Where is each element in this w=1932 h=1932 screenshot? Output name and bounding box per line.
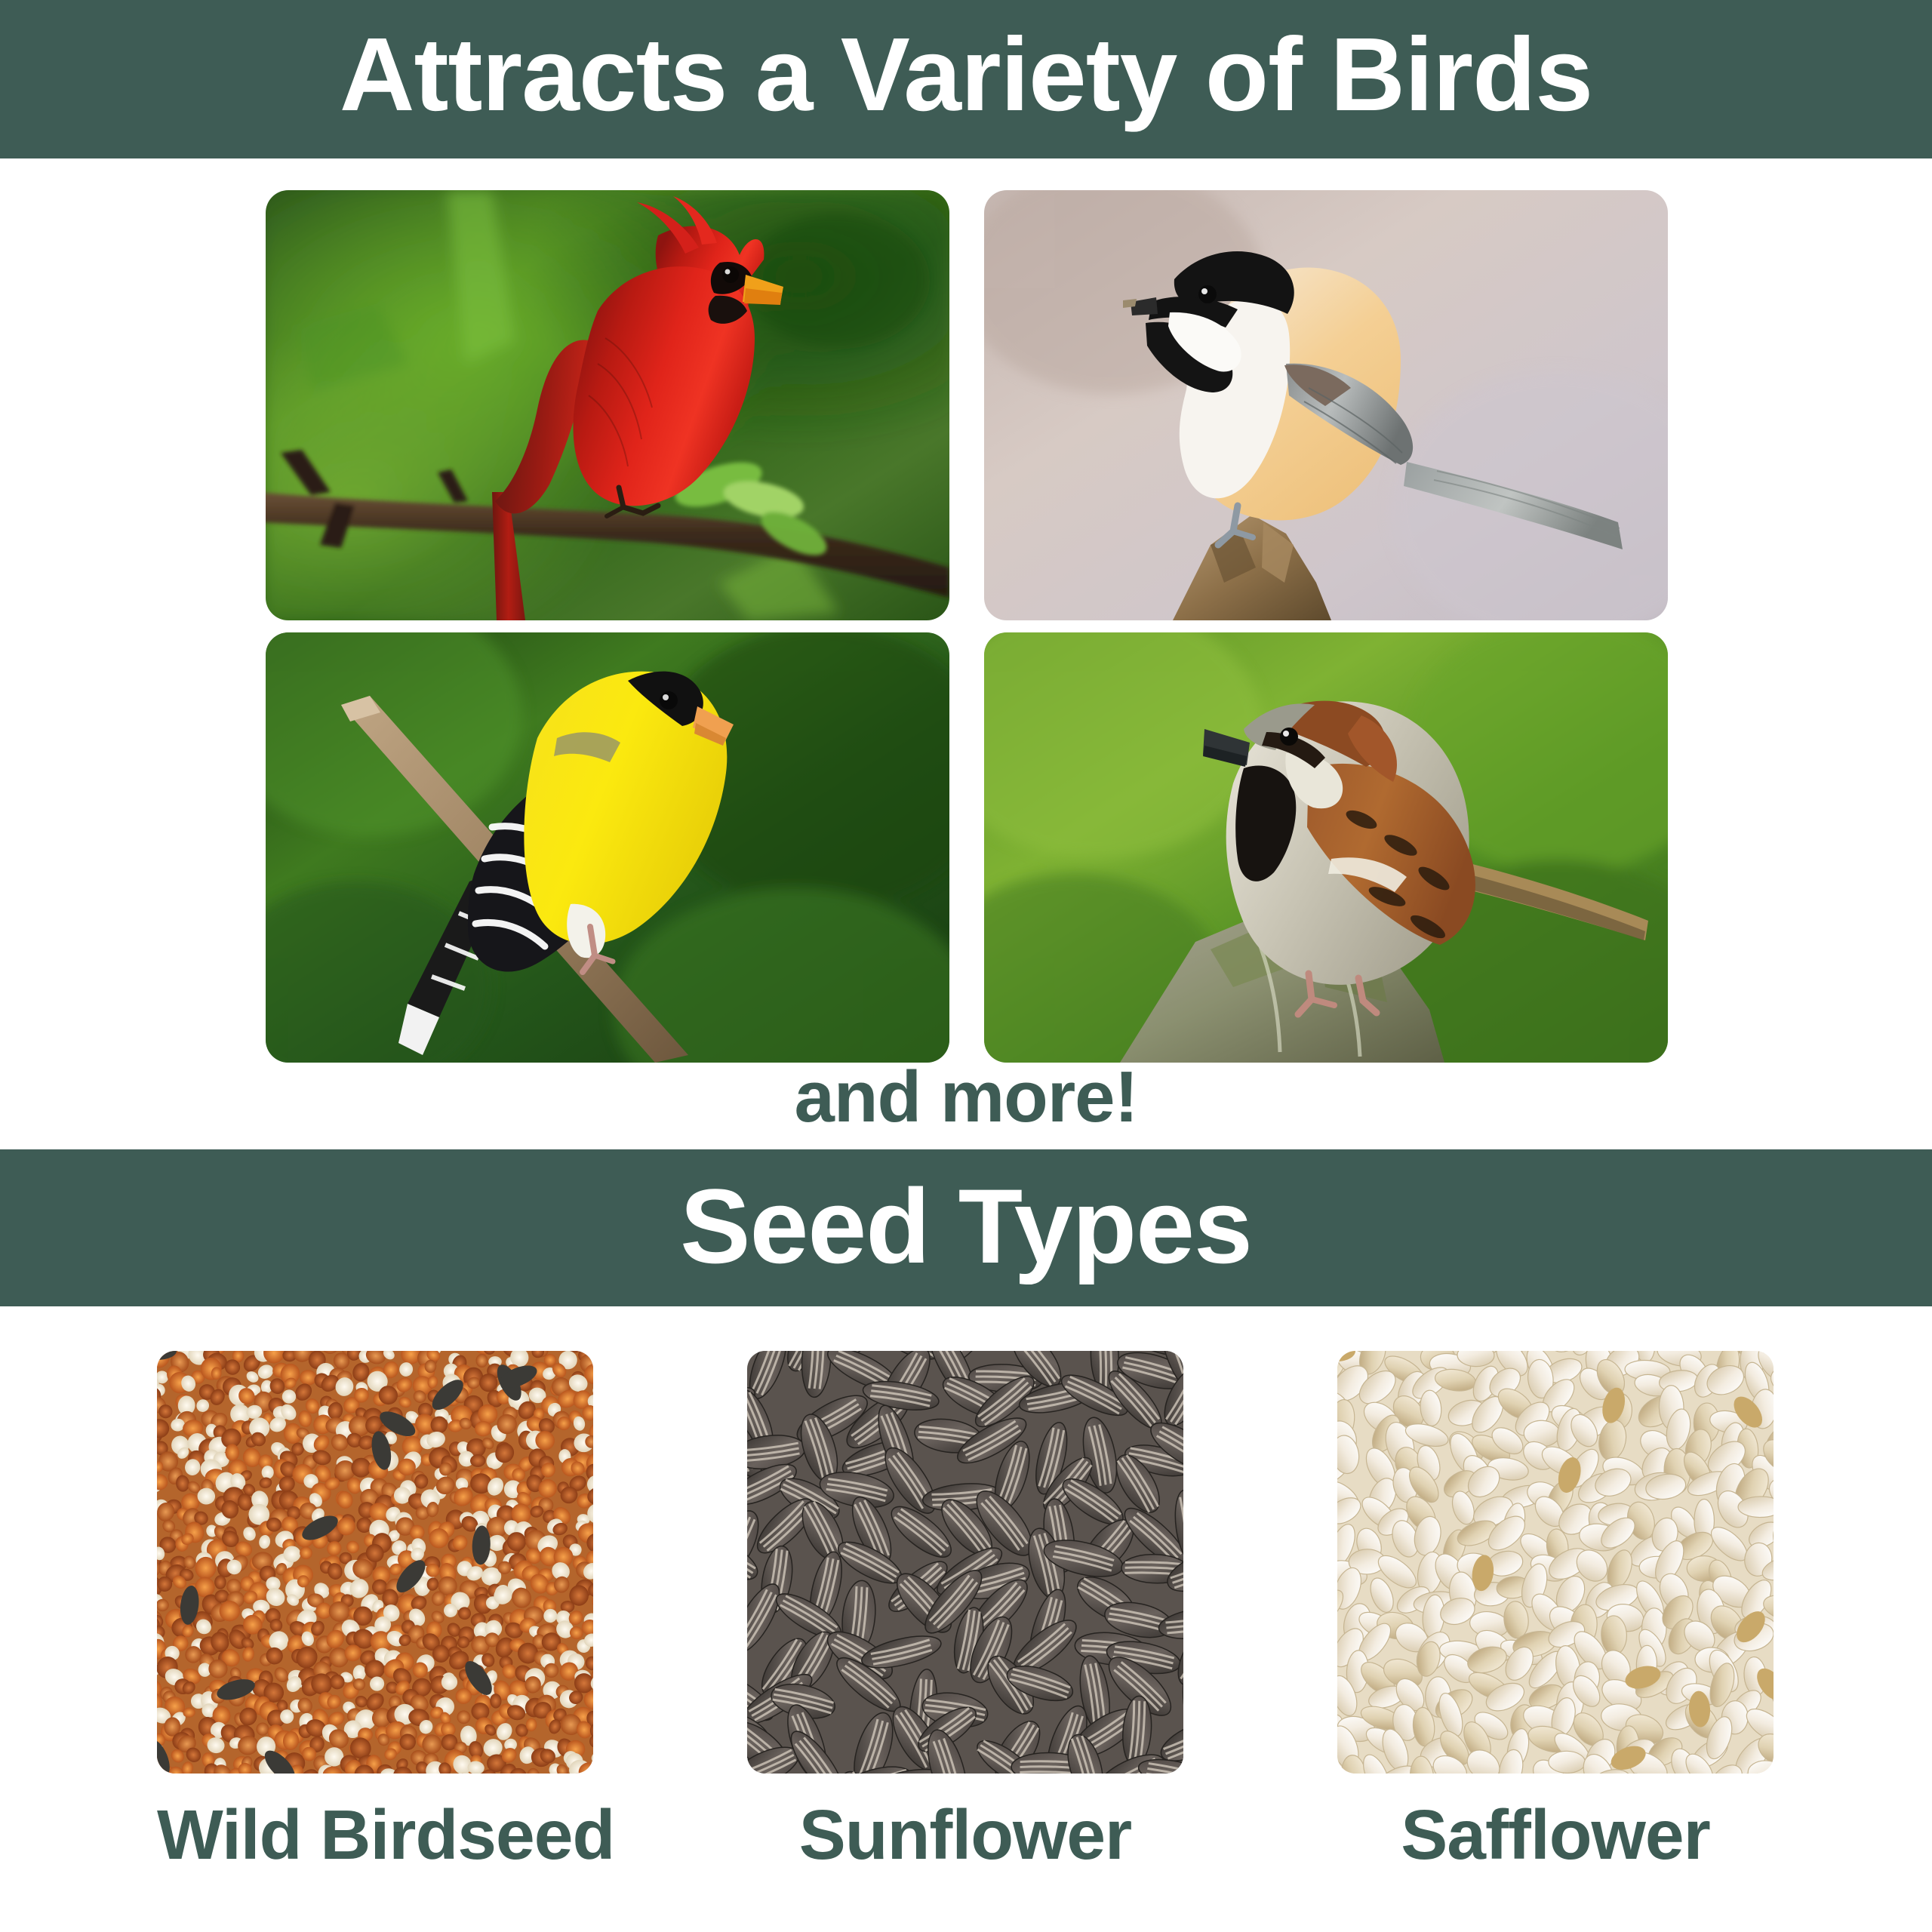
- northern-cardinal-image: [266, 190, 949, 620]
- bird-photo-northern-cardinal: [266, 190, 949, 620]
- seed-types-banner-title: Seed Types: [680, 1174, 1252, 1279]
- sunflower-seed-image: [747, 1351, 1183, 1774]
- seed-tile-row: [157, 1351, 1774, 1774]
- bird-photo-house-sparrow: [984, 632, 1668, 1063]
- seed-types-banner: Seed Types: [0, 1149, 1932, 1306]
- bird-photo-black-capped-chickadee: [984, 190, 1668, 620]
- safflower-seed-image: [1337, 1351, 1774, 1774]
- seed-label-wild-birdseed: Wild Birdseed: [157, 1795, 593, 1875]
- seed-tile-safflower: [1337, 1351, 1774, 1774]
- house-sparrow-image: [984, 632, 1668, 1063]
- wild-birdseed-image: [157, 1351, 593, 1774]
- bird-photo-american-goldfinch: [266, 632, 949, 1063]
- birds-banner: Attracts a Variety of Birds: [0, 0, 1932, 158]
- american-goldfinch-image: [266, 632, 949, 1063]
- seed-label-sunflower: Sunflower: [747, 1795, 1183, 1875]
- black-capped-chickadee-image: [984, 190, 1668, 620]
- and-more-caption: and more!: [0, 1056, 1932, 1139]
- bird-photo-grid: [266, 190, 1668, 1063]
- seed-tile-wild-birdseed: [157, 1351, 593, 1774]
- seed-tile-sunflower: [747, 1351, 1183, 1774]
- seed-label-row: Wild Birdseed Sunflower Safflower: [157, 1795, 1774, 1875]
- seed-label-safflower: Safflower: [1337, 1795, 1774, 1875]
- birds-banner-title: Attracts a Variety of Birds: [340, 23, 1592, 127]
